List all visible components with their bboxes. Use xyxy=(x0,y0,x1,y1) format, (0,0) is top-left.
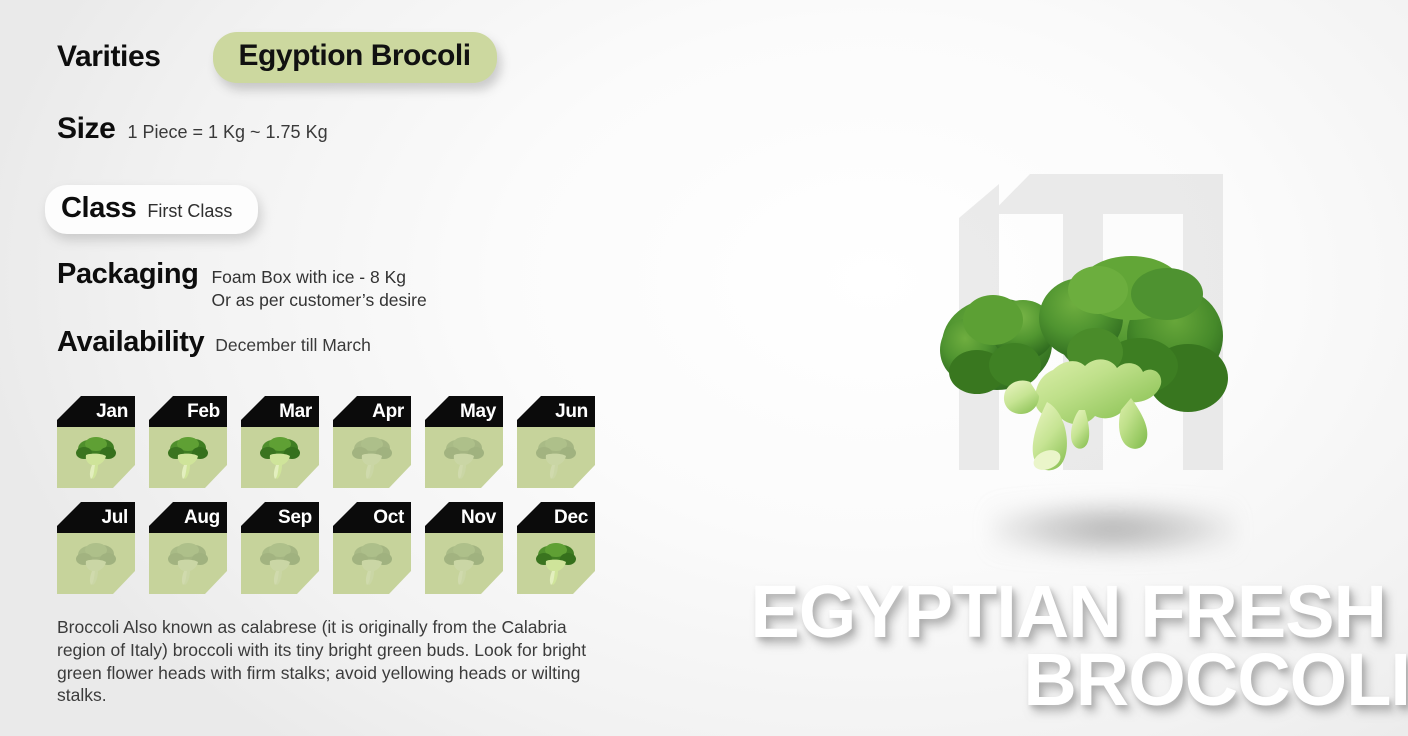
month-tile-label: May xyxy=(425,396,503,427)
packaging-value-line-2: Or as per customer’s desire xyxy=(211,289,426,312)
spec-row-availability: Availability December till March xyxy=(57,326,371,359)
availability-value: December till March xyxy=(215,335,371,356)
packaging-values: Foam Box with ice - 8 Kg Or as per custo… xyxy=(211,258,426,313)
month-tile-body xyxy=(517,533,595,594)
size-label: Size xyxy=(57,112,115,146)
broccoli-thumb-icon xyxy=(348,542,396,586)
month-tile-label: Jul xyxy=(57,502,135,533)
broccoli-thumb-icon xyxy=(440,542,488,586)
month-tile-nov[interactable]: Nov xyxy=(425,502,503,594)
class-label: Class xyxy=(61,192,136,225)
broccoli-thumb-icon xyxy=(532,436,580,480)
spec-row-class: Class First Class xyxy=(45,185,258,234)
product-description: Broccoli Also known as calabrese (it is … xyxy=(57,616,597,707)
broccoli-thumb-icon xyxy=(256,436,304,480)
month-tile-body xyxy=(241,427,319,488)
month-tile-oct[interactable]: Oct xyxy=(333,502,411,594)
month-tile-sep[interactable]: Sep xyxy=(241,502,319,594)
broccoli-thumb-icon xyxy=(256,542,304,586)
broccoli-thumb-icon xyxy=(532,542,580,586)
month-tile-label: Jun xyxy=(517,396,595,427)
hero-title-line-1: EGYPTIAN FRESH xyxy=(750,578,1386,646)
hero-visual: EGYPTIAN FRESH BROCCOLI xyxy=(660,0,1408,736)
month-row-first-half: Jan Feb Mar Apr May Jun xyxy=(57,396,617,488)
varities-label: Varities xyxy=(57,40,161,74)
month-tile-label: Oct xyxy=(333,502,411,533)
month-row-second-half: Jul Aug Sep Oct Nov Dec xyxy=(57,502,617,594)
month-tile-label: Nov xyxy=(425,502,503,533)
specification-panel: Varities Egyption Brocoli Size 1 Piece =… xyxy=(0,0,660,736)
month-tile-body xyxy=(333,427,411,488)
month-tile-body xyxy=(425,533,503,594)
hero-title: EGYPTIAN FRESH BROCCOLI xyxy=(750,578,1386,714)
spec-row-packaging: Packaging Foam Box with ice - 8 Kg Or as… xyxy=(57,258,427,313)
month-tile-body xyxy=(149,533,227,594)
packaging-value-line-1: Foam Box with ice - 8 Kg xyxy=(211,266,426,289)
month-tile-label: Dec xyxy=(517,502,595,533)
month-tile-feb[interactable]: Feb xyxy=(149,396,227,488)
varities-value-pill: Egyption Brocoli xyxy=(213,32,497,83)
month-tile-label: Jan xyxy=(57,396,135,427)
month-tile-aug[interactable]: Aug xyxy=(149,502,227,594)
packaging-label: Packaging xyxy=(57,258,198,291)
month-tile-label: Feb xyxy=(149,396,227,427)
month-tile-body xyxy=(57,427,135,488)
month-tile-body xyxy=(149,427,227,488)
broccoli-thumb-icon xyxy=(164,542,212,586)
broccoli-thumb-icon xyxy=(164,436,212,480)
class-value: First Class xyxy=(147,201,232,222)
month-tile-may[interactable]: May xyxy=(425,396,503,488)
month-tile-jun[interactable]: Jun xyxy=(517,396,595,488)
size-value: 1 Piece = 1 Kg ~ 1.75 Kg xyxy=(127,122,327,143)
month-tile-dec[interactable]: Dec xyxy=(517,502,595,594)
month-tile-body xyxy=(57,533,135,594)
broccoli-thumb-icon xyxy=(348,436,396,480)
broccoli-thumb-icon xyxy=(440,436,488,480)
month-tile-jan[interactable]: Jan xyxy=(57,396,135,488)
month-tile-label: Sep xyxy=(241,502,319,533)
broccoli-drop-shadow xyxy=(988,500,1238,558)
broccoli-photo-icon xyxy=(935,232,1240,487)
month-tile-body xyxy=(425,427,503,488)
month-tile-jul[interactable]: Jul xyxy=(57,502,135,594)
spec-row-size: Size 1 Piece = 1 Kg ~ 1.75 Kg xyxy=(57,112,328,146)
month-tile-apr[interactable]: Apr xyxy=(333,396,411,488)
month-tile-label: Mar xyxy=(241,396,319,427)
broccoli-thumb-icon xyxy=(72,436,120,480)
hero-title-line-2: BROCCOLI xyxy=(750,646,1408,714)
broccoli-thumb-icon xyxy=(72,542,120,586)
month-tile-body xyxy=(517,427,595,488)
month-tile-label: Aug xyxy=(149,502,227,533)
month-tile-mar[interactable]: Mar xyxy=(241,396,319,488)
availability-month-grid: Jan Feb Mar Apr May Jun Jul Aug xyxy=(57,396,617,608)
month-tile-label: Apr xyxy=(333,396,411,427)
month-tile-body xyxy=(333,533,411,594)
spec-row-varities: Varities Egyption Brocoli xyxy=(57,32,497,83)
availability-label: Availability xyxy=(57,326,204,359)
month-tile-body xyxy=(241,533,319,594)
